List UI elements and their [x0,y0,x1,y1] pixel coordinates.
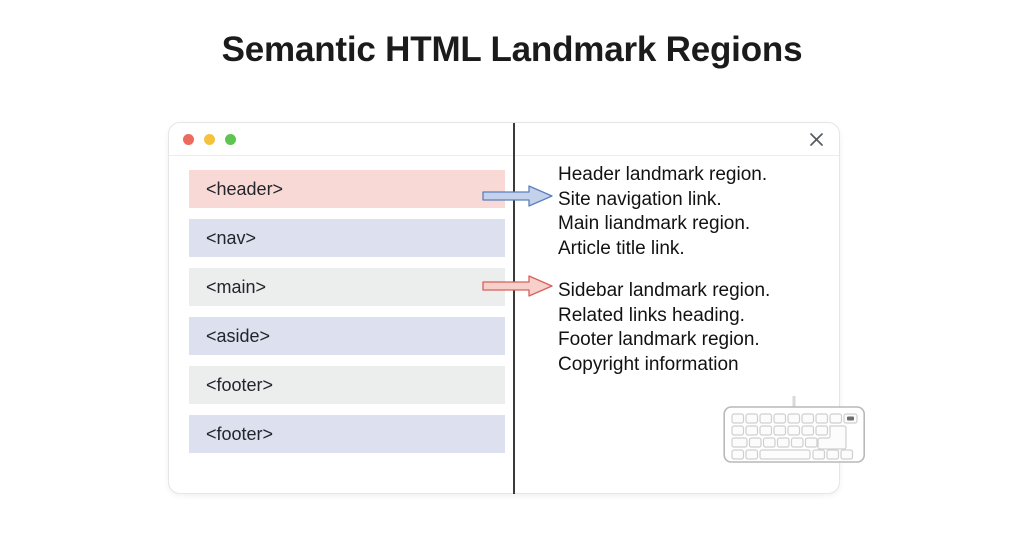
landmark-block-footer-1[interactable]: <footer> [189,366,505,404]
arrow-blue-icon [482,183,554,209]
landmark-block-label: <footer> [206,375,273,396]
landmark-block-label: <header> [206,179,283,200]
annotation-group-two: Sidebar landmark region. Related links h… [558,279,828,377]
traffic-light-group [183,134,236,145]
landmark-block-footer-2[interactable]: <footer> [189,415,505,453]
landmark-block-list: <header> <nav> <main> <aside> <footer> <… [189,170,505,464]
window-titlebar [169,123,839,156]
annotation-group-one: Header landmark region. Site navigation … [558,163,828,261]
annotation-line: Site navigation link. [558,188,828,213]
close-icon[interactable] [806,129,826,149]
minimize-dot-icon[interactable] [204,134,215,145]
annotation-line: Main liandmark region. [558,212,828,237]
page-title: Semantic HTML Landmark Regions [0,30,1024,70]
annotation-line: Article title link. [558,237,828,262]
keyboard-illustration [723,396,866,464]
arrow-red-icon [482,273,554,299]
landmark-block-label: <footer> [206,424,273,445]
landmark-block-nav[interactable]: <nav> [189,219,505,257]
landmark-block-main[interactable]: <main> [189,268,505,306]
annotation-line: Sidebar landmark region. [558,279,828,304]
landmark-block-aside[interactable]: <aside> [189,317,505,355]
landmark-block-label: <main> [206,277,266,298]
maximize-dot-icon[interactable] [225,134,236,145]
annotation-line: Related links heading. [558,304,828,329]
vertical-divider [513,123,515,494]
landmark-block-header[interactable]: <header> [189,170,505,208]
annotation-column: Header landmark region. Site navigation … [558,163,828,395]
landmark-block-label: <aside> [206,326,270,347]
landmark-block-label: <nav> [206,228,256,249]
close-dot-icon[interactable] [183,134,194,145]
annotation-line: Header landmark region. [558,163,828,188]
annotation-line: Copyright information [558,353,828,378]
annotation-line: Footer landmark region. [558,328,828,353]
